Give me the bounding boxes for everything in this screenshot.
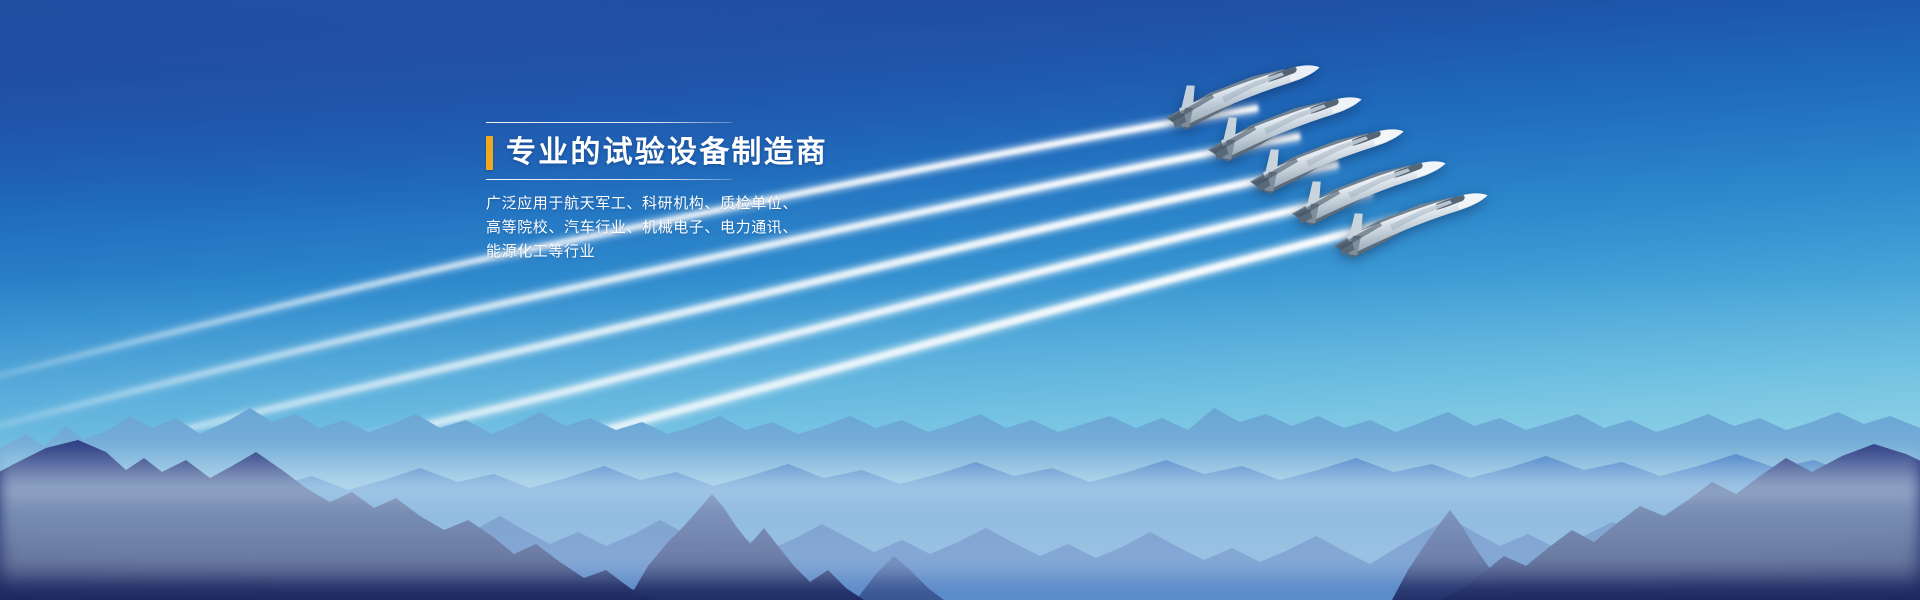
banner-copy: 专业的试验设备制造商 广泛应用于航天军工、科研机构、质检单位、 高等院校、汽车行… xyxy=(486,122,816,264)
accent-bar-icon xyxy=(486,136,493,170)
subtitle-block: 广泛应用于航天军工、科研机构、质检单位、 高等院校、汽车行业、机械电子、电力通讯… xyxy=(486,192,816,264)
hero-banner: 专业的试验设备制造商 广泛应用于航天军工、科研机构、质检单位、 高等院校、汽车行… xyxy=(0,0,1920,600)
divider-top xyxy=(486,122,732,123)
subtitle-line-3: 能源化工等行业 xyxy=(486,240,816,264)
headline-row: 专业的试验设备制造商 xyxy=(486,136,816,170)
subtitle-line-1: 广泛应用于航天军工、科研机构、质检单位、 xyxy=(486,192,816,216)
subtitle-line-2: 高等院校、汽车行业、机械电子、电力通讯、 xyxy=(486,216,816,240)
vignette-overlay xyxy=(0,0,1920,600)
page-title: 专业的试验设备制造商 xyxy=(506,136,828,170)
divider-bottom xyxy=(486,179,732,180)
